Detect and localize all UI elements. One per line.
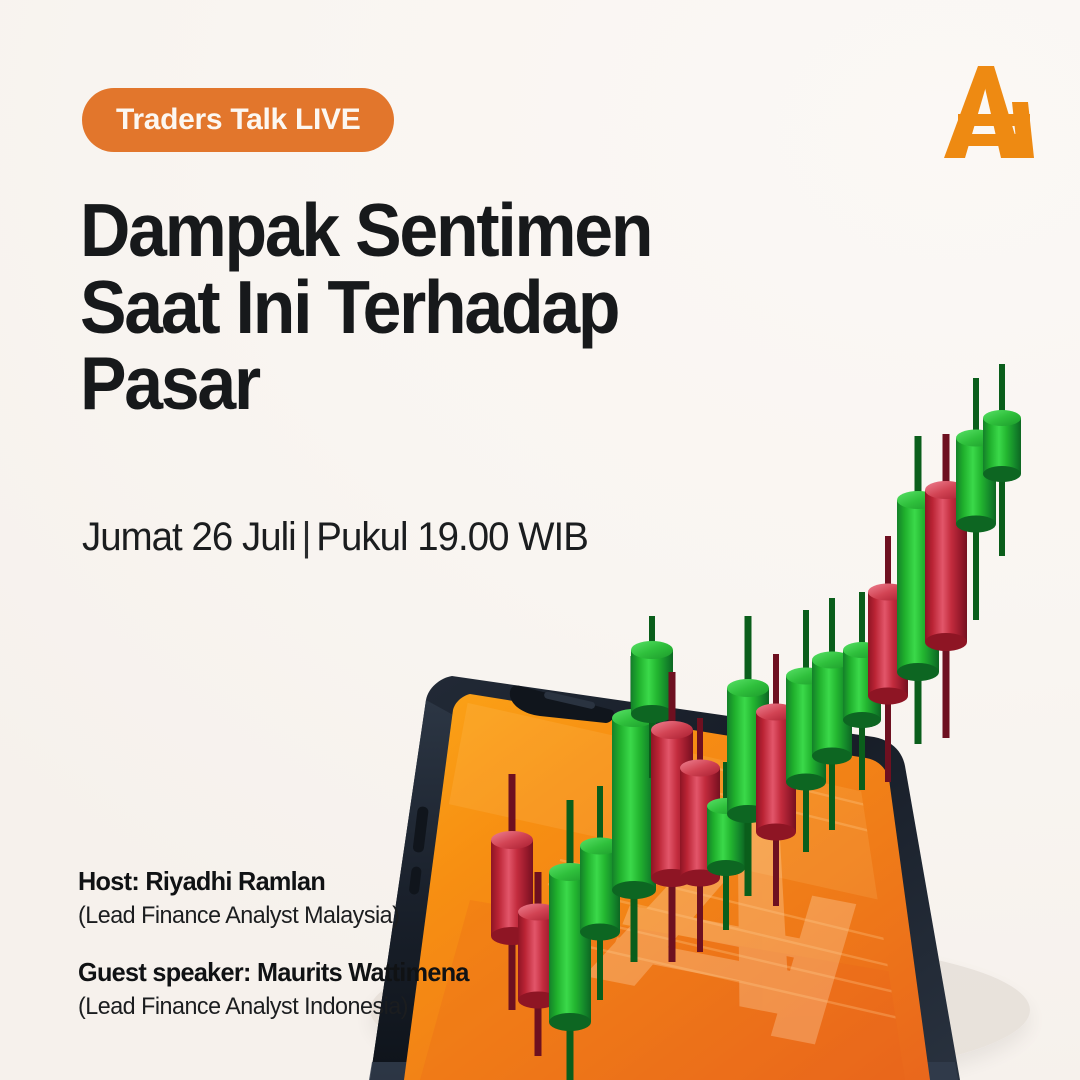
brand-a-logo — [932, 58, 1044, 166]
poster-canvas: Traders Talk LIVE Dampak Sentimen Saat I… — [0, 0, 1080, 1080]
event-time: Pukul 19.00 WIB — [316, 515, 588, 559]
guest-name: Guest speaker: Maurits Wattimena — [78, 957, 469, 989]
page-title: Dampak Sentimen Saat Ini Terhadap Pasar — [80, 192, 651, 422]
headline-line-2: Saat Ini Terhadap — [80, 269, 651, 346]
headline-line-3: Pasar — [80, 345, 651, 422]
host-role: (Lead Finance Analyst Malaysia) — [78, 900, 469, 931]
live-badge: Traders Talk LIVE — [82, 88, 394, 152]
event-date: Jumat 26 Juli — [82, 515, 296, 559]
event-datetime: Jumat 26 Juli|Pukul 19.00 WIB — [82, 515, 588, 560]
datetime-separator: | — [296, 515, 317, 559]
guest-role: (Lead Finance Analyst Indonesia) — [78, 991, 469, 1022]
host-name: Host: Riyadhi Ramlan — [78, 866, 469, 898]
host-entry: Host: Riyadhi Ramlan (Lead Finance Analy… — [78, 866, 481, 931]
headline-line-1: Dampak Sentimen — [80, 192, 651, 269]
speakers-block: Host: Riyadhi Ramlan (Lead Finance Analy… — [78, 866, 481, 1048]
guest-entry: Guest speaker: Maurits Wattimena (Lead F… — [78, 957, 481, 1022]
